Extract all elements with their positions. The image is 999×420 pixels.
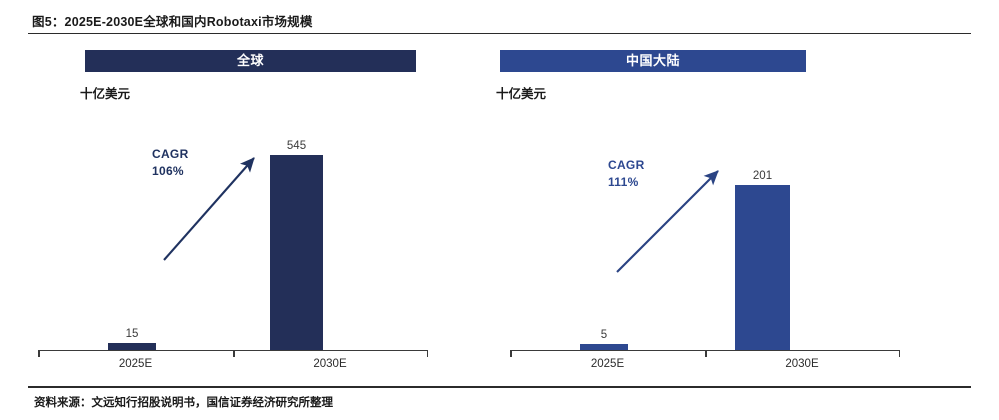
x-axis-tick-mid-china bbox=[705, 350, 707, 357]
bar-value-global-2030e: 545 bbox=[270, 140, 323, 152]
cagr-value-global: 106% bbox=[152, 163, 189, 180]
x-axis-tick-start-china bbox=[510, 350, 512, 357]
x-axis-label-global-2025e: 2025E bbox=[38, 358, 233, 370]
cagr-arrow-china bbox=[500, 44, 940, 374]
x-axis-tick-end-global bbox=[427, 350, 429, 357]
source-note: 资料来源：文远知行招股说明书，国信证券经济研究所整理 bbox=[34, 394, 333, 410]
bar-value-china-2025e: 5 bbox=[580, 329, 628, 341]
title-divider bbox=[28, 33, 971, 34]
cagr-arrow-global bbox=[28, 44, 468, 374]
chart-panel-global: 全球 十亿美元 15 545 CAGR 106% 2025E 2030E bbox=[28, 44, 468, 374]
cagr-value-china: 111% bbox=[608, 174, 645, 191]
x-axis-tick-mid-global bbox=[233, 350, 235, 357]
cagr-label-global: CAGR bbox=[152, 146, 189, 163]
x-axis-tick-start-global bbox=[38, 350, 40, 357]
x-axis-tick-end-china bbox=[899, 350, 901, 357]
bar-value-global-2025e: 15 bbox=[108, 328, 156, 340]
chart-panel-china: 中国大陆 十亿美元 5 201 CAGR 111% 2025E 2030E bbox=[500, 44, 940, 374]
x-axis-label-china-2025e: 2025E bbox=[510, 358, 705, 370]
cagr-annotation-china: CAGR 111% bbox=[608, 157, 645, 191]
footer-divider bbox=[28, 386, 971, 388]
cagr-annotation-global: CAGR 106% bbox=[152, 146, 189, 180]
bar-china-2030e bbox=[735, 185, 790, 350]
figure-title: 图5：2025E-2030E全球和国内Robotaxi市场规模 bbox=[32, 11, 313, 30]
plot-area-china: 5 201 CAGR 111% 2025E 2030E bbox=[500, 44, 940, 374]
bar-value-china-2030e: 201 bbox=[735, 170, 790, 182]
x-axis-label-china-2030e: 2030E bbox=[705, 358, 899, 370]
x-axis-label-global-2030e: 2030E bbox=[233, 358, 427, 370]
cagr-label-china: CAGR bbox=[608, 157, 645, 174]
bar-global-2030e bbox=[270, 155, 323, 350]
plot-area-global: 15 545 CAGR 106% 2025E 2030E bbox=[28, 44, 468, 374]
